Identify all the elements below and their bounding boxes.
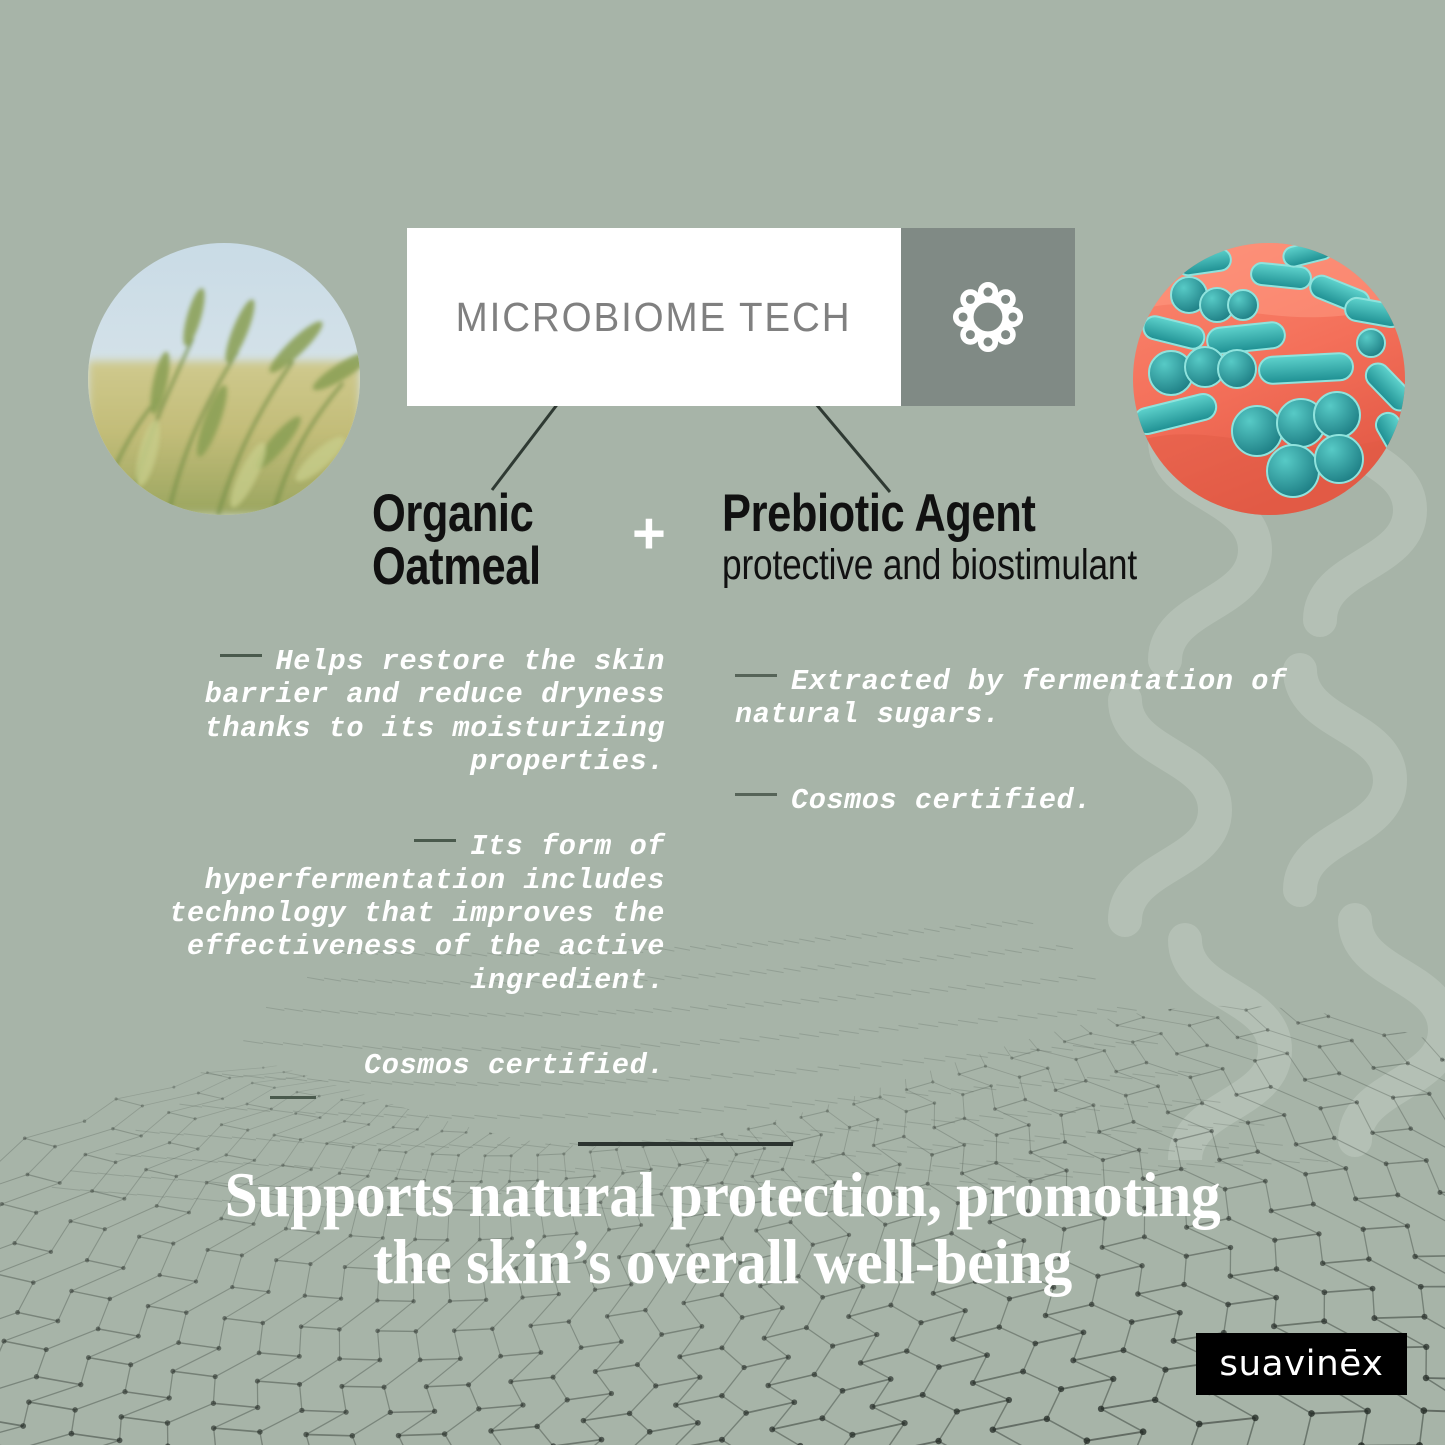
right-bullet-2-text: Cosmos certified. — [791, 784, 1092, 817]
brand-logo: suavinēx — [1196, 1333, 1407, 1395]
bullet-dash-icon — [270, 1096, 316, 1099]
left-bullet-3: Cosmos certified. — [100, 1049, 665, 1099]
bullet-dash-icon — [220, 654, 262, 657]
brand-logo-text: suavinēx — [1220, 1344, 1384, 1384]
left-bullet-2: Its form of hyperfermentation includes t… — [100, 830, 665, 997]
right-bullet-2: Cosmos certified. — [735, 784, 1355, 817]
tagline-line2: the skin’s overall well-being — [51, 1229, 1395, 1296]
left-bullet-1: Helps restore the skin barrier and reduc… — [100, 645, 665, 778]
left-bullet-2-text: Its form of hyperfermentation includes t… — [169, 830, 665, 996]
bullet-dash-icon — [735, 674, 777, 677]
badge-title-panel: MICROBIOME TECH — [407, 228, 901, 406]
ingredient-headings: Organic Oatmeal + Prebiotic Agent protec… — [0, 487, 1445, 597]
right-bullet-column: Extracted by fermentation of natural sug… — [735, 665, 1355, 869]
left-bullet-column: Helps restore the skin barrier and reduc… — [100, 645, 665, 1151]
ingredient-left-title-line1: Organic — [372, 487, 569, 540]
ingredient-left-title: Organic Oatmeal — [372, 487, 569, 593]
badge-title: MICROBIOME TECH — [456, 294, 852, 341]
right-bullet-1-text: Extracted by fermentation of natural sug… — [735, 665, 1287, 731]
tagline-line1: Supports natural protection, promoting — [51, 1162, 1395, 1229]
plus-separator: + — [632, 505, 666, 563]
ingredient-right-title-group: Prebiotic Agent protective and biostimul… — [722, 487, 1228, 588]
badge-icon-panel — [901, 228, 1075, 406]
bullet-dash-icon — [735, 793, 777, 796]
tagline: Supports natural protection, promoting t… — [51, 1162, 1395, 1295]
left-bullet-3-text: Cosmos certified. — [364, 1049, 665, 1082]
right-bullet-1: Extracted by fermentation of natural sug… — [735, 665, 1355, 732]
ingredient-left-title-line2: Oatmeal — [372, 540, 569, 593]
ingredient-right-subtitle: protective and biostimulant — [722, 543, 1137, 588]
microbe-icon — [945, 274, 1031, 360]
ingredient-right-title: Prebiotic Agent — [722, 487, 1137, 541]
microbiome-tech-badge: MICROBIOME TECH — [407, 228, 1075, 406]
infographic-canvas: MICROBIOME TECH Organic Oat — [0, 0, 1445, 1445]
tagline-rule — [578, 1142, 793, 1146]
left-bullet-1-text: Helps restore the skin barrier and reduc… — [205, 645, 665, 778]
bullet-dash-icon — [414, 839, 456, 842]
